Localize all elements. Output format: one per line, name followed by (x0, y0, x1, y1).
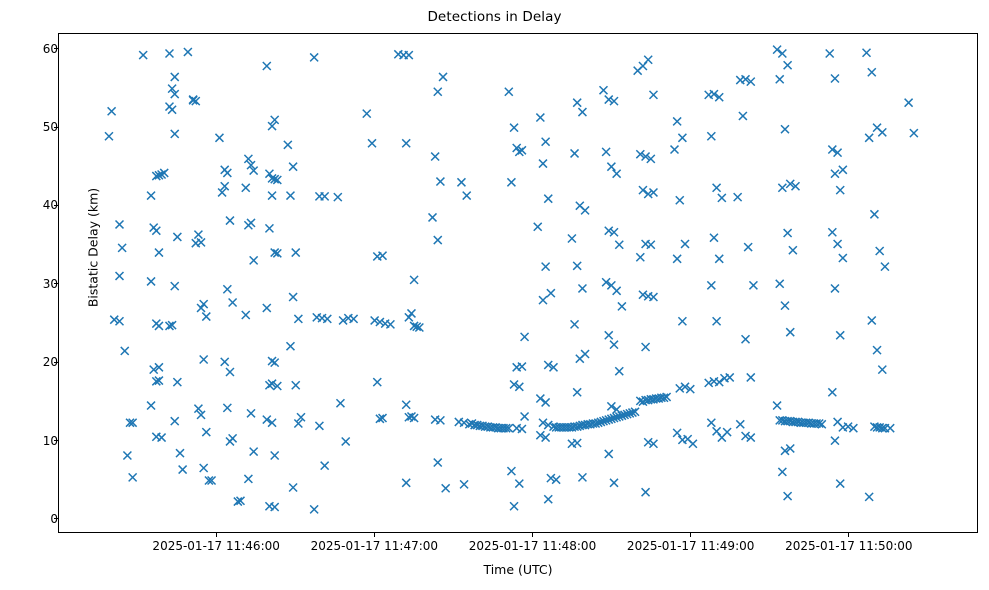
x-tick-label: 2025-01-17 11:48:00 (469, 539, 596, 553)
plot-area (58, 33, 978, 533)
y-tick-label: 60 (14, 42, 58, 56)
x-tick-label: 2025-01-17 11:46:00 (152, 539, 279, 553)
y-tick-label: 40 (14, 198, 58, 212)
x-tick-label: 2025-01-17 11:47:00 (311, 539, 438, 553)
page-title: Detections in Delay (0, 9, 989, 25)
y-tick-label: 0 (14, 512, 58, 526)
x-tick-mark (848, 533, 849, 537)
figure-canvas: Detections in Delay Bistatic Delay (km) … (0, 0, 989, 590)
x-tick-mark (374, 533, 375, 537)
y-tick-label: 10 (14, 434, 58, 448)
scatter-points-layer (59, 34, 977, 532)
y-axis-ticks: 0102030405060 (0, 0, 58, 590)
scatter-series-detections (105, 46, 918, 514)
y-tick-label: 30 (14, 277, 58, 291)
x-tick-label: 2025-01-17 11:49:00 (627, 539, 754, 553)
x-axis-label: Time (UTC) (58, 562, 978, 577)
y-tick-label: 20 (14, 355, 58, 369)
x-tick-mark (690, 533, 691, 537)
x-tick-label: 2025-01-17 11:50:00 (785, 539, 912, 553)
x-tick-mark (532, 533, 533, 537)
x-tick-mark (216, 533, 217, 537)
y-tick-label: 50 (14, 120, 58, 134)
